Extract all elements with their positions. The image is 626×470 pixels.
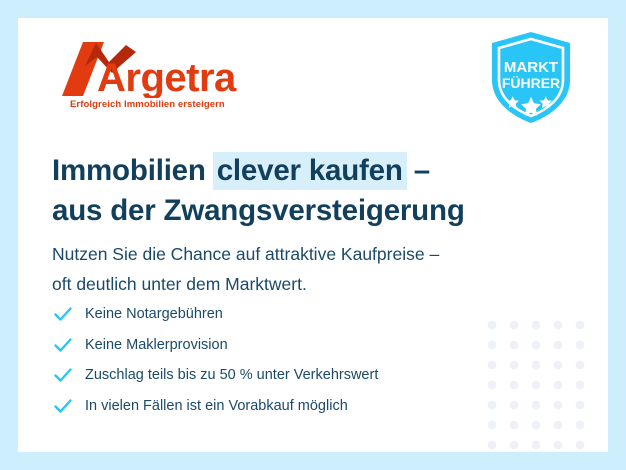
svg-text:Argetra: Argetra [97, 56, 237, 98]
list-item-label: Zuschlag teils bis zu 50 % unter Verkehr… [85, 366, 378, 384]
badge-line1: MARKT [504, 59, 558, 76]
subheading-line-1: Nutzen Sie die Chance auf attraktive Kau… [52, 244, 439, 264]
argetra-logomark-icon: Argetra [52, 40, 267, 98]
headline-line-2: aus der Zwangsversteigerung [52, 191, 562, 231]
badge-line2: FÜHRER [502, 75, 560, 91]
markt-fuehrer-badge: MARKT FÜHRER [488, 30, 574, 126]
headline-highlight: clever kaufen [213, 152, 407, 190]
list-item-label: In vielen Fällen ist ein Vorabkauf mögli… [85, 397, 348, 415]
headline-part-2: – [406, 154, 430, 187]
list-item: Zuschlag teils bis zu 50 % unter Verkehr… [52, 360, 482, 391]
argetra-logo[interactable]: Argetra Erfolgreich Immobilien ersteiger… [52, 40, 282, 110]
promo-banner: Argetra Erfolgreich Immobilien ersteiger… [0, 0, 626, 470]
banner-inner-panel: Argetra Erfolgreich Immobilien ersteiger… [18, 18, 608, 452]
list-item: Keine Notargebühren [52, 299, 482, 330]
logo-mark-row: Argetra [52, 40, 282, 98]
check-icon [52, 364, 74, 386]
list-item: Keine Maklerprovision [52, 330, 482, 361]
headline-part-1: Immobilien [52, 154, 214, 187]
list-item: In vielen Fällen ist ein Vorabkauf mögli… [52, 391, 482, 422]
logo-tagline: Erfolgreich Immobilien ersteigern [70, 99, 282, 110]
subheading: Nutzen Sie die Chance auf attraktive Kau… [52, 239, 552, 299]
check-icon [52, 395, 74, 417]
benefits-list: Keine Notargebühren Keine Maklerprovisio… [52, 299, 482, 421]
check-icon [52, 334, 74, 356]
list-item-label: Keine Maklerprovision [85, 336, 228, 354]
dot-grid-decoration [482, 303, 602, 452]
page-title: Immobilien clever kaufen – aus der Zwang… [52, 151, 562, 231]
subheading-line-2: oft deutlich unter dem Marktwert. [52, 274, 307, 294]
list-item-label: Keine Notargebühren [85, 305, 223, 323]
check-icon [52, 303, 74, 325]
